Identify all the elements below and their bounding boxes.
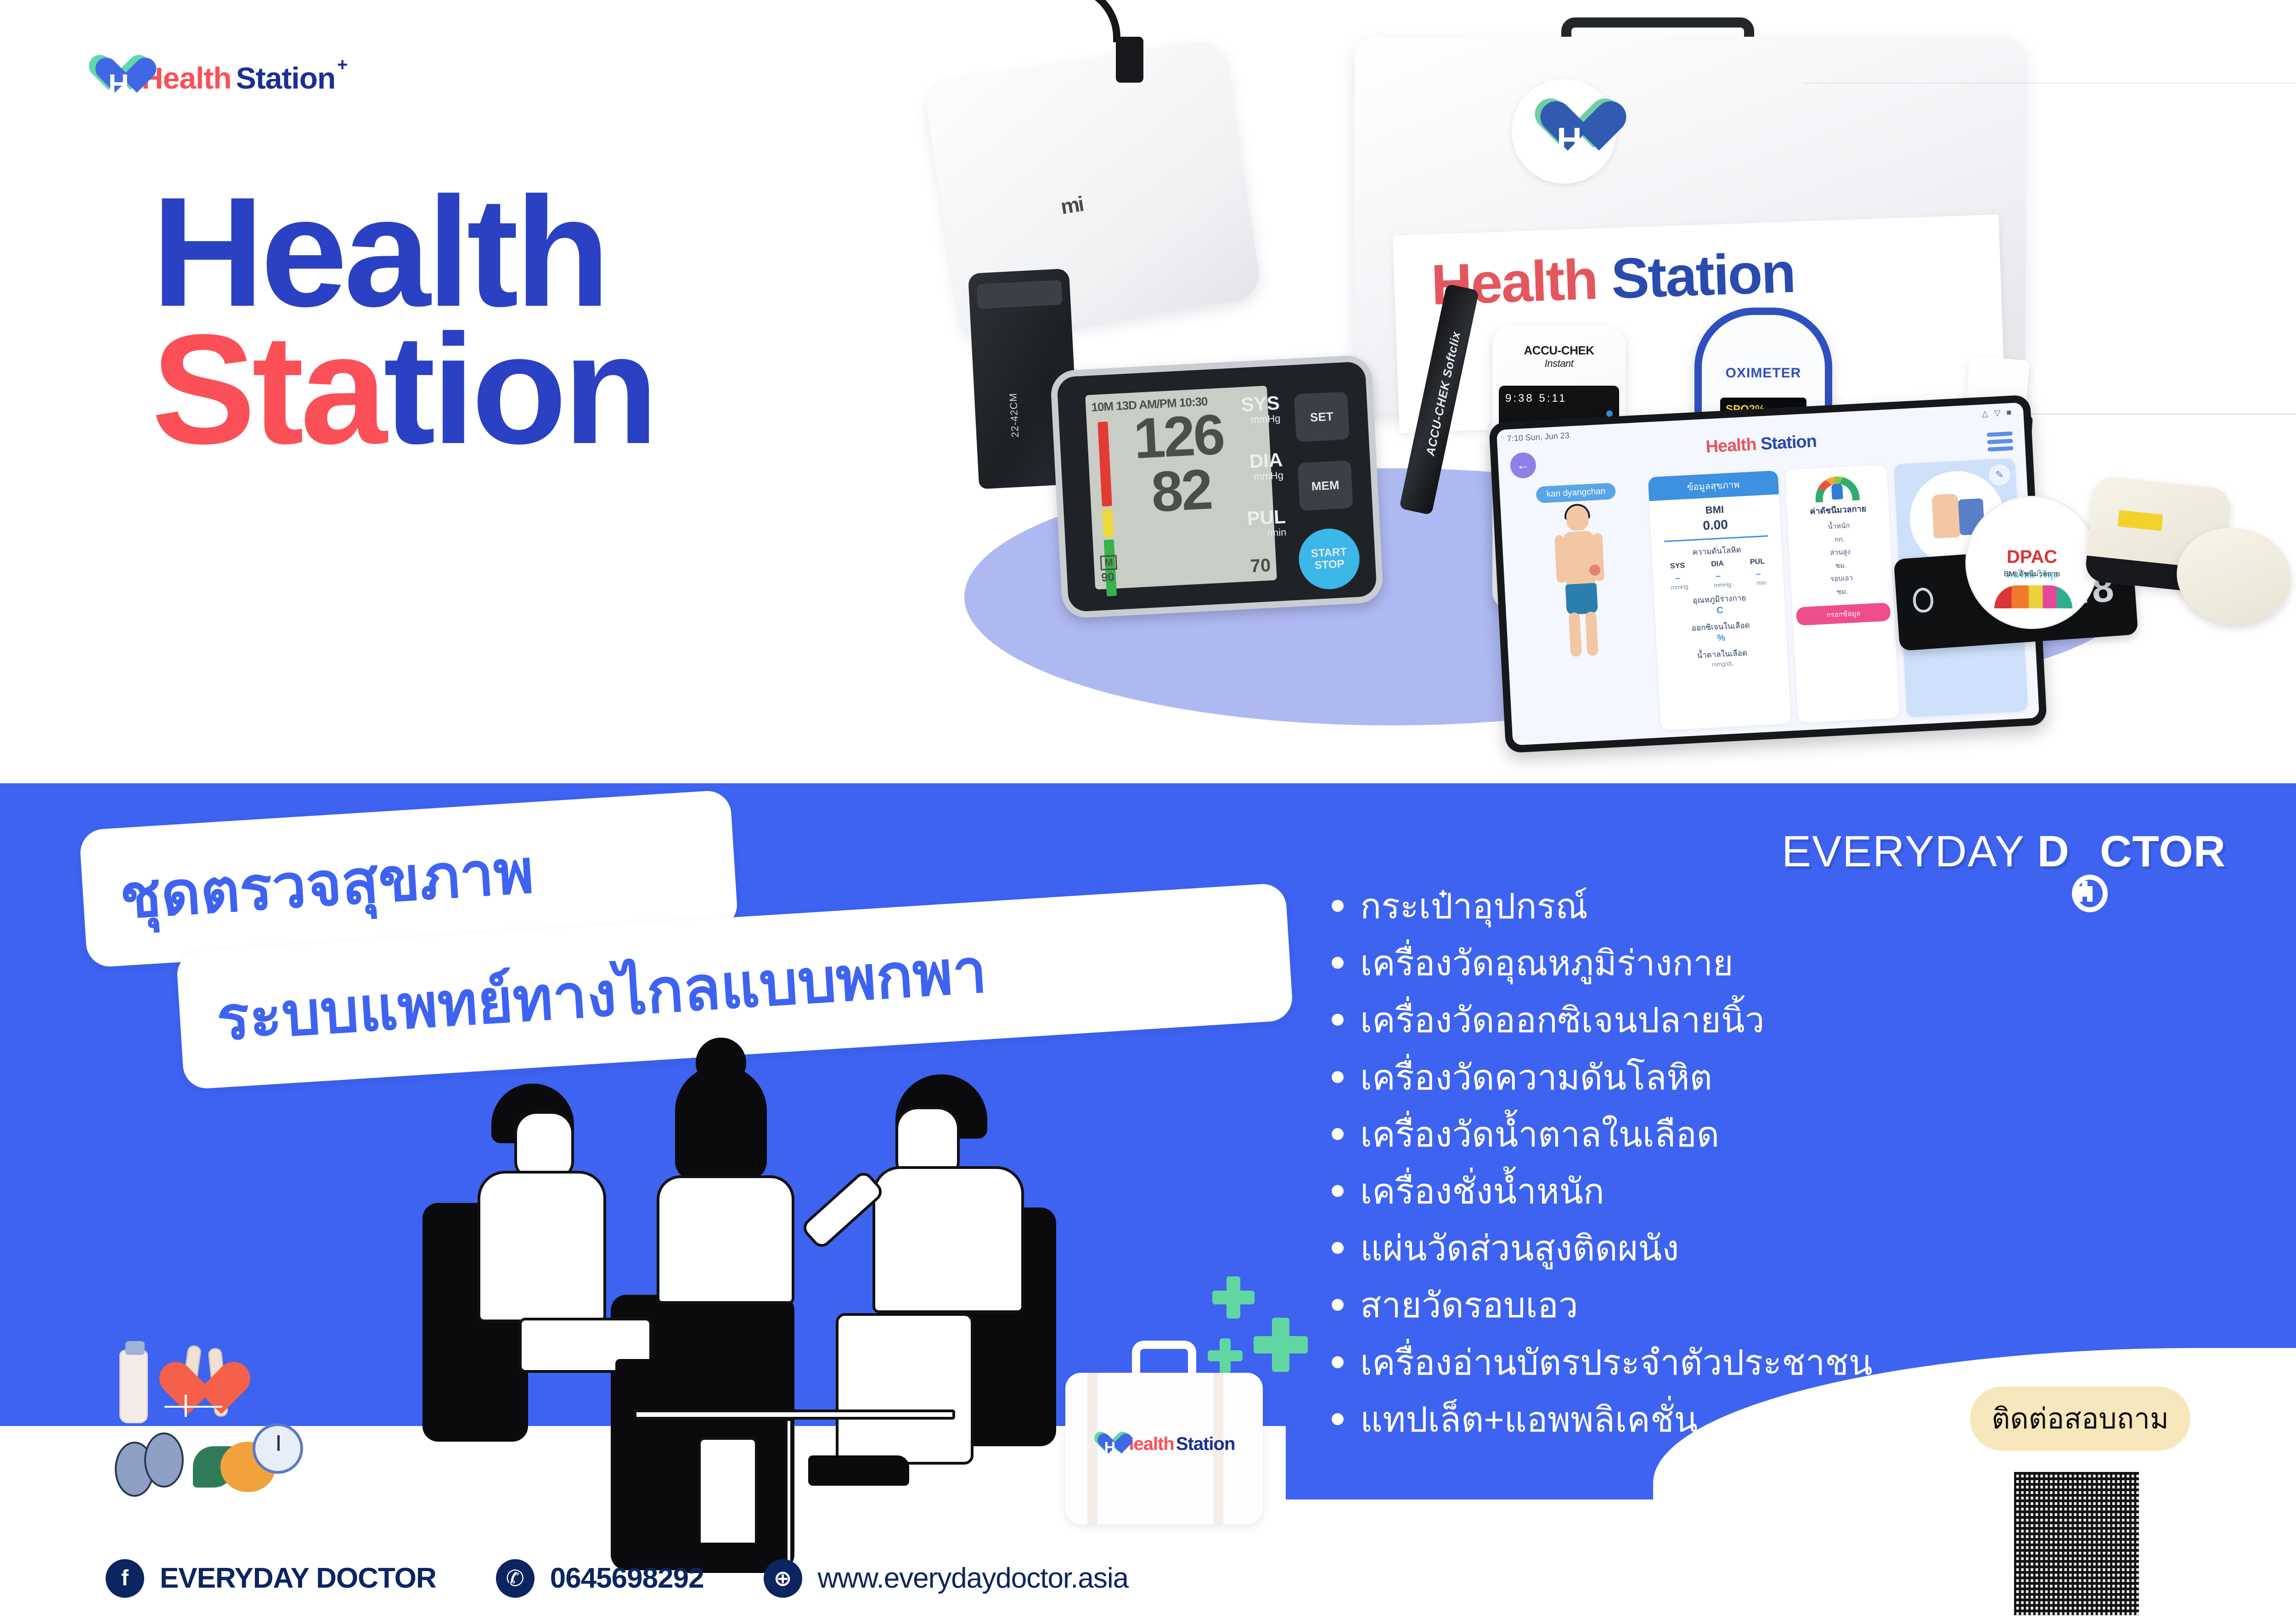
tablet-logo-health: Health [1705, 435, 1757, 457]
health-sys: SYS [1670, 562, 1685, 571]
body-avatar [1549, 504, 1612, 658]
reader-cable [1038, 0, 1120, 42]
display-power-icon [1912, 587, 1934, 613]
facebook-icon: f [106, 1559, 144, 1598]
facebook-label: EVERYDAY DOCTOR [160, 1562, 436, 1595]
case-seam [1805, 83, 2296, 84]
bmi-metric-rows: น้ำหนัก กก. ส่วนสูง ซม. รอบเอว ซม. [1791, 517, 1890, 601]
list-item: เครื่องวัดออกซิเจนปลายนิ้ว [1332, 995, 2204, 1046]
bmi-save-button[interactable]: กรอกข้อมูล [1796, 602, 1891, 626]
consultation-table [634, 1410, 955, 1420]
case-logo-badge: H [1512, 79, 1616, 184]
bp-dia-unit: mmHg [1254, 469, 1284, 482]
heart-letter: H [108, 71, 128, 99]
avatar-head [1565, 505, 1589, 531]
tablet-status-icons: △ ▽ ■ [1981, 408, 2014, 419]
tablet-user-name: kan dyangchan [1536, 483, 1616, 503]
briefcase-heart-letter: H [1104, 1439, 1116, 1457]
footer-phone[interactable]: ✆ 0645698292 [496, 1559, 704, 1598]
badge-letter: H [1557, 120, 1582, 160]
bp-stop-label: STOP [1314, 558, 1345, 572]
avatar-shorts [1565, 583, 1598, 615]
usb-c-plug-icon [1116, 37, 1143, 83]
phone-icon: ✆ [496, 1559, 535, 1598]
headline-sta: Sta [152, 302, 383, 477]
avatar-torso [1562, 531, 1596, 585]
badge-heart-icon: H [1532, 99, 1597, 160]
banner-text-2: ระบบแพทย์ทางไกลแบบพกพา [214, 922, 990, 1067]
device-hand-icon [1931, 494, 1960, 539]
bp-pul-unit: /min [1267, 526, 1287, 539]
doctor-suffix: CTOR [2100, 827, 2226, 876]
poster-title: Health Station [1430, 240, 1795, 318]
health-sys-value: – [1675, 573, 1681, 584]
scale-brand-label: mi [1059, 191, 1085, 219]
everyday-doctor-heading: EVERYDAY DCTOR [1782, 826, 2226, 877]
health-pul-value: – [1756, 569, 1761, 580]
clock-icon [253, 1423, 303, 1474]
feature-label: แทปเล็ต+แอพพลิเคชั่น [1360, 1395, 1698, 1445]
glucometer-brand-name: ACCU-CHEK [1524, 343, 1594, 357]
feature-label: สายวัดรอบเอว [1360, 1280, 1578, 1331]
gauge-person-icon [1831, 483, 1843, 500]
health-dia-value: – [1715, 571, 1721, 582]
glucometer-time-right: 5:11 [1539, 392, 1567, 404]
bullet-icon [1332, 1356, 1344, 1368]
doctor-prefix: D [2037, 827, 2070, 876]
tablet-health-card: ข้อมูลสุขภาพ BMI 0.00 ความดันโลหิต SYS D… [1648, 471, 1791, 730]
bp-memory-icon: M [1100, 555, 1118, 571]
health-dia-unit: mmHg [1714, 581, 1732, 589]
product-photo-composition: mi H Health Station [928, 9, 2296, 781]
list-item: กระเป๋าอุปกรณ์ [1332, 882, 2204, 932]
person-right-legs [836, 1313, 974, 1465]
tape-brand-label: DPAC [1967, 547, 2097, 567]
avatar-leg-right [1585, 612, 1598, 656]
health-pul: PUL [1750, 557, 1765, 567]
bp-dia-value: 82 [1095, 460, 1268, 522]
water-bottle-icon [119, 1350, 148, 1423]
footer-facebook[interactable]: f EVERYDAY DOCTOR [106, 1559, 436, 1598]
tablet-app-logo: Health Station [1497, 421, 2025, 468]
bp-sys-label-group: SYS mmHg [1241, 393, 1281, 427]
glucometer-brand: ACCU-CHEK Instant [1492, 343, 1626, 370]
poster-station: Station [1610, 241, 1795, 311]
person-center-bun [696, 1038, 746, 1088]
tape-bmi-scale [1994, 585, 2072, 608]
device-edit-icon[interactable]: ✎ [1988, 464, 2010, 486]
bullet-icon [1332, 1185, 1344, 1197]
doctor-label: DCTOR [2037, 827, 2226, 876]
bp-sys-unit: mmHg [1250, 413, 1281, 426]
glucometer-model: Instant [1492, 358, 1626, 370]
glucometer-time-left: 9:38 [1505, 392, 1534, 404]
health-sys-unit: mmHg [1671, 583, 1688, 591]
tablet-menu-icon[interactable] [1987, 432, 2014, 455]
page-title: Health Station [152, 184, 655, 458]
bmi-card-title: ค่าดัชนีมวลกาย [1790, 500, 1885, 519]
heart-logo-icon: H [87, 54, 137, 102]
bullet-icon [1332, 1299, 1344, 1311]
feature-label: เครื่องวัดอุณหภูมิร่างกาย [1360, 938, 1733, 989]
bullet-icon [1332, 1071, 1344, 1083]
consultation-illustration [395, 1056, 1130, 1515]
health-dia: DIA [1711, 560, 1724, 568]
briefcase-logo: H Health Station [1065, 1432, 1263, 1456]
health-divider [1664, 535, 1768, 542]
list-item: สายวัดรอบเอว [1332, 1280, 2204, 1331]
headline-line-2: Station [152, 321, 655, 458]
bottle-cap [125, 1341, 145, 1355]
bp-bar-yellow [1102, 509, 1114, 537]
dumbbell-icon-2 [144, 1432, 184, 1488]
footer-contact-bar: f EVERYDAY DOCTOR ✆ 0645698292 ⊕ www.eve… [0, 1533, 2296, 1623]
bullet-icon [1332, 1242, 1344, 1254]
bp-dia-label-group: DIA mmHg [1244, 450, 1283, 483]
bp-dia-label: DIA [1244, 450, 1283, 471]
logo-station-label: Station [236, 61, 336, 95]
bp-memory-block: M 90 [1100, 555, 1119, 585]
medical-cross-icon-2 [1254, 1318, 1308, 1372]
list-item: เครื่องวัดน้ำตาลในเลือด [1332, 1110, 2204, 1160]
blood-pressure-monitor: 10M 13D AM/PM 10:30 126 82 M 90 70 [1050, 354, 1384, 619]
oximeter-label: OXIMETER [1702, 365, 1825, 381]
heart-shape [156, 1364, 220, 1421]
list-item: แผ่นวัดส่วนสูงติดผนัง [1332, 1224, 2204, 1274]
list-item: เครื่องอ่านบัตรประจำตัวประชาชน [1332, 1338, 2204, 1388]
person-right-body [872, 1166, 1024, 1313]
list-item: เครื่องวัดความดันโลหิต [1332, 1053, 2204, 1103]
health-pul-unit: min [1756, 579, 1767, 586]
contact-badge[interactable]: ติดต่อสอบถาม [1970, 1387, 2190, 1451]
bp-memory-count: 90 [1101, 570, 1118, 585]
bp-set-button[interactable]: SET [1294, 392, 1350, 442]
logo-plus-icon: + [337, 56, 347, 74]
bullet-icon [1332, 900, 1344, 912]
feature-label: เครื่องชั่งน้ำหนัก [1360, 1167, 1604, 1217]
bp-mem-button[interactable]: MEM [1298, 461, 1353, 511]
list-item: เครื่องชั่งน้ำหนัก [1332, 1167, 2204, 1217]
tablet-status-time: 7:10 Sun, Jun 23 [1507, 431, 1570, 444]
bmi-gauge-icon [1814, 475, 1860, 502]
bp-pul-label-group: PUL /min [1247, 507, 1287, 540]
bp-sys-label: SYS [1241, 393, 1280, 415]
globe-icon: ⊕ [764, 1559, 802, 1598]
person-left-face [514, 1111, 574, 1180]
briefcase-handle-icon [1132, 1341, 1196, 1375]
cuff-size-label: 22-42CM [1007, 393, 1021, 438]
banner-text-1: ชุดตรวจสุขภาพ [117, 823, 537, 945]
logo-station-text: Station + [236, 63, 348, 93]
bullet-icon [1332, 1413, 1344, 1425]
person-left-body [478, 1171, 606, 1322]
feature-label: กระเป๋าอุปกรณ์ [1360, 882, 1588, 932]
feature-label: เครื่องวัดความดันโลหิต [1360, 1053, 1712, 1103]
avatar-leg-left [1569, 612, 1582, 657]
ecg-line-icon [164, 1406, 222, 1408]
health-icons-cluster [115, 1350, 308, 1515]
headline-line-1: Health [152, 184, 655, 321]
briefcase-heart-icon: H [1093, 1432, 1119, 1456]
website-label: www.everydaydoctor.asia [818, 1562, 1129, 1595]
heart-health-icon [156, 1364, 225, 1428]
footer-website[interactable]: ⊕ www.everydaydoctor.asia [764, 1559, 1129, 1598]
bullet-icon [1332, 1128, 1344, 1140]
hero-section: H Health Station + Health Station mi [0, 0, 2296, 783]
bp-lcd-footer: M 90 70 [1100, 547, 1272, 584]
bullet-icon [1332, 957, 1344, 969]
everyday-label: EVERYDAY [1782, 827, 2025, 876]
feature-label: แผ่นวัดส่วนสูงติดผนัง [1360, 1224, 1679, 1274]
contact-badge-label: ติดต่อสอบถาม [1992, 1396, 2169, 1441]
headline-tion: tion [383, 302, 655, 477]
phone-label: 0645698292 [550, 1562, 704, 1595]
person-left-shoe [615, 1359, 698, 1389]
cuff-strap [977, 280, 1063, 309]
feature-list: กระเป๋าอุปกรณ์ เครื่องวัดอุณหภูมิร่างกาย… [1332, 882, 2204, 1452]
tablet-bmi-card: ค่าดัชนีมวลกาย น้ำหนัก กก. ส่วนสูง ซม. ร… [1785, 465, 1900, 723]
bp-start-stop-button[interactable]: START STOP [1297, 527, 1361, 591]
health-panel-body: BMI 0.00 ความดันโลหิต SYS DIA PUL [1649, 494, 1788, 677]
tape-bmi-label: BMI ดัชนีมวลกาย [1967, 568, 2097, 580]
medical-cross-icon-3 [1208, 1338, 1243, 1373]
person-right-shoe [808, 1455, 909, 1486]
glucometer-time: 9:38 5:11 [1505, 392, 1613, 405]
briefcase-illustration: H Health Station [1065, 1373, 1263, 1524]
reader-sticker [2117, 510, 2163, 531]
feature-label: เครื่องวัดออกซิเจนปลายนิ้ว [1360, 995, 1764, 1046]
list-item: เครื่องวัดอุณหภูมิร่างกาย [1332, 938, 2204, 989]
waist-tape-measure: DPAC คนไทย ไร้พุง BMI ดัชนีมวลกาย [1965, 496, 2099, 629]
feature-label: เครื่องอ่านบัตรประจำตัวประชาชน [1360, 1338, 1873, 1388]
tablet-logo-station: Station [1760, 432, 1817, 454]
feature-label: เครื่องวัดน้ำตาลในเลือด [1360, 1110, 1719, 1160]
bullet-icon [1332, 1014, 1344, 1026]
bp-pul-label: PUL [1247, 507, 1286, 528]
medical-cross-icon-1 [1212, 1276, 1255, 1319]
brand-logo[interactable]: H Health Station + [87, 54, 347, 102]
poster-canvas: H Health Station + Health Station mi [0, 0, 2296, 1623]
tablet-avatar-card: kan dyangchan [1510, 477, 1654, 737]
dot-blue-1 [1606, 410, 1613, 417]
briefcase-station-text: Station [1176, 1434, 1235, 1455]
person-center-body [657, 1175, 794, 1304]
